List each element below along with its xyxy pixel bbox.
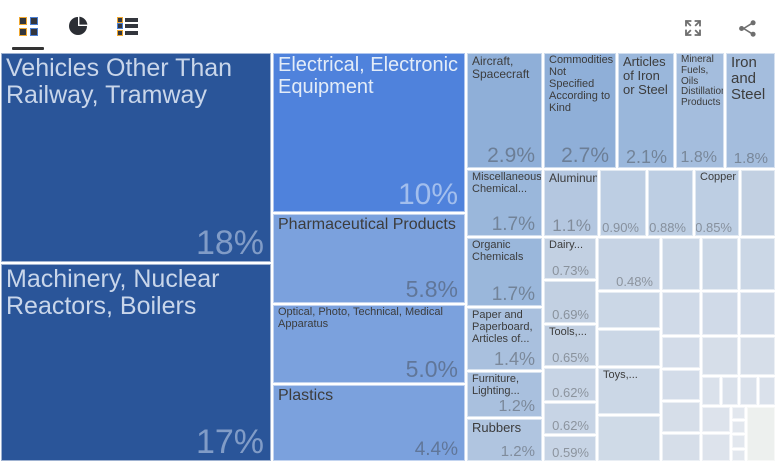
list-icon [118, 18, 138, 35]
treemap-cell-value: 0.65% [552, 351, 589, 364]
treemap-cell[interactable] [702, 377, 720, 405]
treemap-cell[interactable]: 0.90% [600, 170, 646, 236]
treemap-cell[interactable]: Aircraft, Spacecraft2.9% [467, 53, 542, 168]
treemap-cell[interactable]: Aluminum1.1% [544, 170, 598, 236]
treemap-cell-label: Electrical, Electronic Equipment [278, 55, 462, 98]
treemap-cell-value: 1.2% [499, 399, 535, 415]
treemap-cell-value: 1.8% [681, 150, 717, 166]
treemap-cell[interactable] [598, 292, 660, 328]
treemap-view-button[interactable] [14, 12, 42, 40]
treemap-cell[interactable] [662, 238, 700, 290]
treemap-cell-label: Commodities Not Specified According to K… [549, 55, 613, 114]
treemap-cell[interactable] [662, 370, 700, 400]
treemap-cell[interactable]: Machinery, Nuclear Reactors, Boilers17% [1, 264, 271, 461]
chart-toolbar [0, 0, 777, 52]
treemap-cell-value: 1.1% [552, 217, 591, 234]
treemap-cell[interactable]: Toys,... [598, 368, 660, 414]
pie-chart-icon [67, 15, 89, 37]
treemap-cell[interactable] [732, 435, 745, 448]
treemap-cell[interactable] [702, 238, 738, 290]
treemap-cell[interactable]: 0.62% [544, 403, 596, 434]
treemap-cell-value: 4.4% [415, 440, 458, 459]
treemap-cell-label: Tools,... [549, 327, 593, 339]
treemap-chart: Vehicles Other Than Railway, Tramway18%M… [0, 52, 777, 462]
treemap-cell[interactable] [662, 402, 700, 432]
treemap-cell[interactable] [722, 377, 738, 405]
treemap-cell[interactable] [732, 450, 745, 461]
treemap-cell-value: 0.85% [695, 221, 732, 234]
share-button[interactable] [733, 14, 761, 42]
treemap-cell[interactable]: Mineral Fuels, Oils Distillation Product… [676, 53, 724, 168]
treemap-cell-label: Miscellaneous Chemical... [472, 172, 539, 196]
treemap-cell[interactable] [740, 337, 775, 375]
treemap-cell-value: 5.0% [406, 358, 458, 381]
treemap-cell[interactable]: Plastics4.4% [273, 385, 465, 461]
list-view-button[interactable] [114, 12, 142, 40]
view-switcher [14, 12, 142, 40]
treemap-cell-value: 10% [398, 180, 458, 210]
treemap-cell-value: 0.62% [552, 386, 589, 399]
treemap-cell[interactable] [702, 337, 738, 375]
treemap-cell-label: Pharmaceutical Products [278, 216, 462, 233]
expand-icon [683, 18, 703, 38]
treemap-cell[interactable]: Electrical, Electronic Equipment10% [273, 53, 465, 212]
treemap-cell[interactable] [662, 292, 700, 335]
treemap-cell[interactable]: Optical, Photo, Technical, Medical Appar… [273, 305, 465, 383]
treemap-cell[interactable]: Articles of Iron or Steel2.1% [618, 53, 674, 168]
treemap-cell-value: 2.1% [626, 148, 667, 166]
treemap-cell[interactable] [598, 330, 660, 366]
treemap-cell-label: Toys,... [603, 370, 657, 382]
treemap-cell-label: Vehicles Other Than Railway, Tramway [6, 55, 268, 109]
treemap-cell[interactable] [741, 170, 775, 236]
treemap-cell-label: Iron and Steel [731, 55, 772, 104]
treemap-cell[interactable]: 0.69% [544, 281, 596, 323]
treemap-cell[interactable] [662, 434, 700, 461]
treemap-cell[interactable]: 0.59% [544, 436, 596, 461]
treemap-cell-value: 0.88% [649, 221, 686, 234]
treemap-cell-value: 18% [196, 226, 264, 260]
chart-actions [679, 14, 761, 42]
treemap-cell[interactable] [702, 292, 738, 335]
fullscreen-button[interactable] [679, 14, 707, 42]
treemap-cell[interactable]: Furniture, Lighting...1.2% [467, 372, 542, 417]
treemap-app: Vehicles Other Than Railway, Tramway18%M… [0, 0, 777, 465]
treemap-cell-label: Aircraft, Spacecraft [472, 55, 539, 81]
treemap-cell[interactable] [662, 337, 700, 368]
treemap-cell-value: 1.2% [501, 444, 535, 459]
treemap-cell[interactable]: Copper0.85% [695, 170, 739, 236]
treemap-cell[interactable] [747, 407, 775, 461]
treemap-cell-value: 2.9% [487, 145, 535, 166]
treemap-cell[interactable]: Tools,...0.65% [544, 325, 596, 366]
treemap-cell-label: Organic Chemicals [472, 240, 539, 264]
treemap-cell[interactable] [702, 434, 730, 461]
treemap-cell-value: 0.73% [552, 264, 589, 277]
treemap-cell-label: Furniture, Lighting... [472, 374, 539, 398]
treemap-cell-value: 1.7% [492, 215, 535, 234]
pie-view-button[interactable] [64, 12, 92, 40]
treemap-cell[interactable] [759, 377, 775, 405]
treemap-cell-value: 0.62% [552, 419, 589, 432]
treemap-cell[interactable]: 0.88% [648, 170, 693, 236]
treemap-cell[interactable] [702, 407, 730, 432]
treemap-cell-value: 1.4% [494, 350, 535, 368]
treemap-cell[interactable] [740, 377, 757, 405]
treemap-cell-value: 0.48% [616, 275, 653, 288]
treemap-cell-value: 0.59% [552, 446, 589, 459]
grid-icon [19, 17, 38, 36]
treemap-cell-label: Optical, Photo, Technical, Medical Appar… [278, 307, 462, 331]
treemap-cell[interactable]: Miscellaneous Chemical...1.7% [467, 170, 542, 236]
treemap-cell-label: Copper [700, 172, 736, 184]
treemap-cell[interactable]: Paper and Paperboard, Articles of...1.4% [467, 308, 542, 370]
treemap-cell[interactable]: Commodities Not Specified According to K… [544, 53, 616, 168]
treemap-cell-label: Rubbers [472, 421, 539, 435]
treemap-cell-value: 5.8% [406, 278, 458, 301]
treemap-cell[interactable]: Pharmaceutical Products5.8% [273, 214, 465, 303]
share-icon [737, 18, 758, 39]
treemap-cell-label: Plastics [278, 387, 462, 404]
treemap-cell[interactable]: Dairy...0.73% [544, 238, 596, 279]
treemap-cell[interactable] [740, 238, 775, 290]
treemap-cell[interactable]: Iron and Steel1.8% [726, 53, 775, 168]
treemap-cell[interactable] [732, 407, 745, 419]
treemap-cell-value: 1.7% [492, 285, 535, 304]
treemap-cell[interactable] [598, 416, 660, 461]
treemap-cell-label: Aluminum [549, 172, 595, 185]
treemap-cell-value: 1.8% [734, 151, 768, 166]
treemap-cell-value: 2.7% [561, 145, 609, 166]
treemap-cell[interactable]: 0.62% [544, 368, 596, 401]
treemap-cell[interactable]: Organic Chemicals1.7% [467, 238, 542, 306]
treemap-cell[interactable] [740, 292, 775, 335]
treemap-cell-label: Dairy... [549, 240, 593, 252]
treemap-cell[interactable] [732, 421, 745, 433]
treemap-cell-value: 0.69% [552, 308, 589, 321]
treemap-cell-value: 17% [196, 425, 264, 459]
treemap-cell-label: Machinery, Nuclear Reactors, Boilers [6, 266, 268, 320]
treemap-cell-label: Mineral Fuels, Oils Distillation Product… [681, 55, 721, 109]
treemap-cell[interactable]: 0.48% [598, 238, 660, 290]
treemap-cell-value: 0.90% [602, 221, 639, 234]
treemap-cell-label: Paper and Paperboard, Articles of... [472, 310, 539, 346]
treemap-cell-label: Articles of Iron or Steel [623, 55, 671, 97]
treemap-cell[interactable]: Rubbers1.2% [467, 419, 542, 461]
treemap-cell[interactable]: Vehicles Other Than Railway, Tramway18% [1, 53, 271, 262]
